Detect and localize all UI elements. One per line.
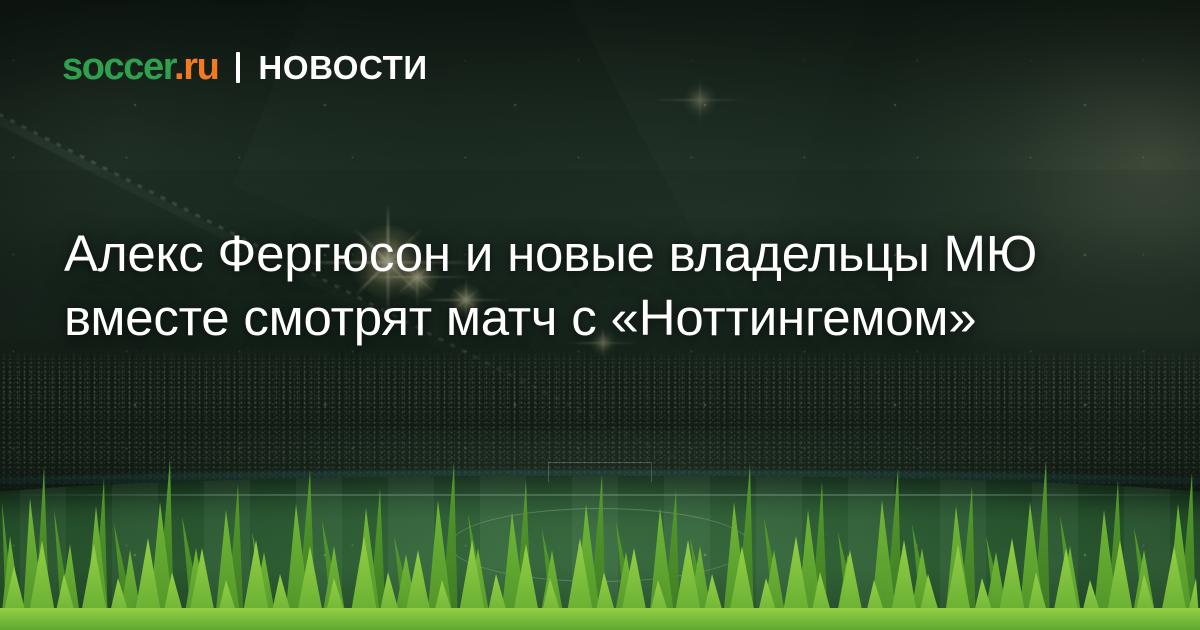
soccer-ru-logo[interactable]: soccer.ru: [62, 48, 218, 86]
logo-suffix-text: .ru: [174, 46, 218, 88]
news-share-card: soccer.ru НОВОСТИ Алекс Фергюсон и новые…: [0, 0, 1200, 630]
vertical-separator-icon: [236, 52, 240, 83]
page-title: Алекс Фергюсон и новые владельцы МЮ вмес…: [64, 222, 1134, 350]
brand-bar[interactable]: soccer.ru НОВОСТИ: [62, 48, 428, 86]
card-content: soccer.ru НОВОСТИ Алекс Фергюсон и новые…: [0, 0, 1200, 630]
section-label: НОВОСТИ: [258, 51, 427, 84]
logo-primary-text: soccer: [62, 46, 174, 88]
